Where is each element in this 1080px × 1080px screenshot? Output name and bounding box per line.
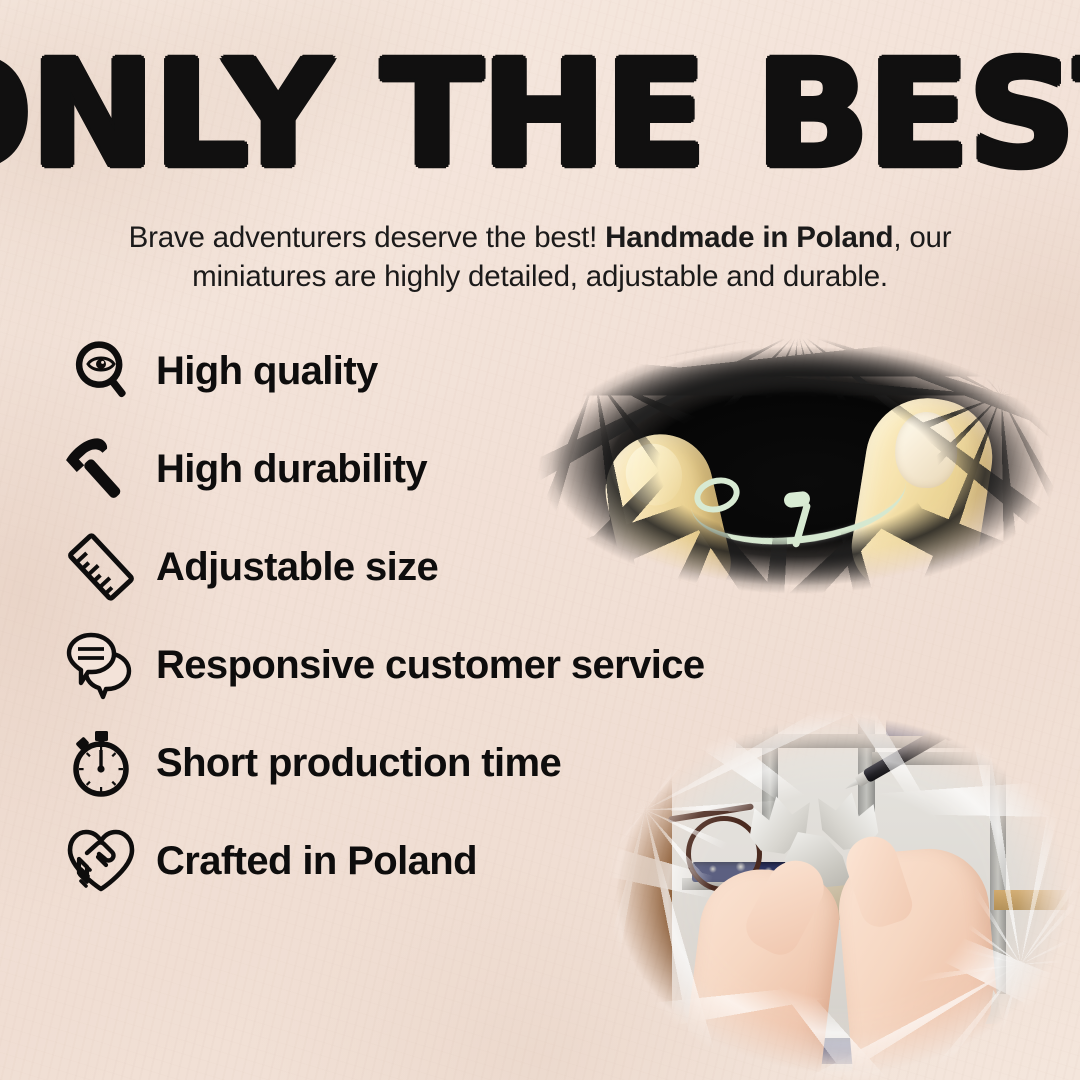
hammer-icon [62,430,140,508]
subtitle-text-before: Brave adventurers deserve the best! [129,221,606,254]
feature-label: High quality [156,349,378,394]
heart-handshake-icon [62,822,140,900]
page-title: ONLY THE BEST [0,0,1080,188]
ruler-icon [62,528,140,606]
torn-edge-texture [516,306,1080,626]
subtitle: Brave adventurers deserve the best! Hand… [0,218,1080,296]
workshop-crafting-photo [586,694,1080,1080]
stopwatch-icon [62,724,140,802]
speech-bubbles-icon [62,626,140,704]
feature-label: High durability [156,447,427,492]
flexing-miniature-photo [516,306,1080,626]
feature-label: Adjustable size [156,545,438,590]
feature-label: Short production time [156,741,561,786]
magnifier-eye-icon [62,332,140,410]
feature-label: Responsive customer service [156,643,705,688]
torn-edge-texture [586,694,1080,1080]
feature-label: Crafted in Poland [156,839,477,884]
header: ONLY THE BEST Brave adventurers deserve … [0,0,1080,162]
subtitle-highlight: Handmade in Poland [605,221,893,254]
